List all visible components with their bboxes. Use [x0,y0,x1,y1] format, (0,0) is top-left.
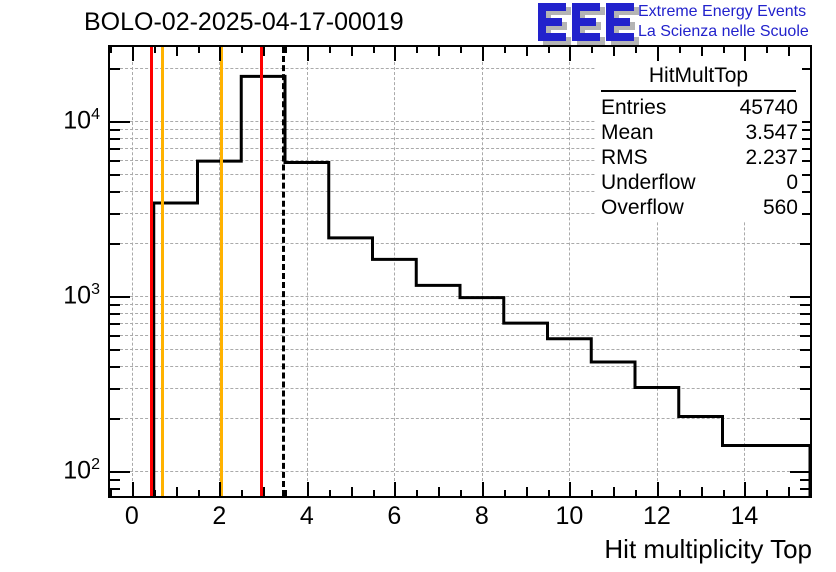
tick-mark [110,138,120,140]
tick-mark [110,304,120,306]
tick-mark [373,47,375,53]
tick-mark [285,47,287,53]
tick-mark [569,482,571,496]
x-tick-label: 6 [387,502,401,531]
tick-mark [701,487,703,496]
tick-mark [800,313,810,315]
tick-mark [482,47,484,61]
marker-red-low [150,47,153,496]
tick-mark [110,148,120,150]
tick-mark [526,487,528,496]
tick-mark [307,482,309,496]
tick-mark [800,243,810,245]
stats-row-key: Entries [601,95,666,120]
tick-mark [800,366,810,368]
stats-row-key: Underflow [601,170,696,195]
x-tick-label: 14 [730,502,758,531]
tick-mark [790,471,810,473]
tick-mark [285,490,287,496]
tick-mark [110,490,112,496]
marker-orange-high [220,47,223,496]
marker-orange-low [161,47,164,496]
tick-mark [438,47,440,56]
tick-mark [635,490,637,496]
tick-mark [241,47,243,53]
tick-mark [176,487,178,496]
tick-mark [110,47,112,53]
y-tick-base: 10 [63,107,91,135]
tick-mark [788,487,790,496]
tick-mark [800,349,810,351]
tick-mark [110,121,130,123]
y-tick-label: 102 [26,457,100,486]
tick-mark [548,47,550,53]
page-title: BOLO-02-2025-04-17-00019 [84,8,404,37]
tick-mark [504,47,506,53]
tick-mark [723,490,725,496]
tick-mark [394,47,396,61]
tick-mark [635,47,637,53]
stats-row: Overflow560 [601,195,798,220]
tick-mark [766,47,768,53]
stats-row-value: 2.237 [745,145,798,170]
eee-logo: Extreme Energy Events La Scienza nelle S… [538,2,834,44]
tick-mark [591,47,593,53]
tick-mark [613,487,615,496]
tick-mark [110,296,130,298]
stats-row-key: RMS [601,145,648,170]
tick-mark [110,335,120,337]
y-tick-exponent: 2 [91,456,100,473]
stats-row: RMS2.237 [601,145,798,170]
tick-mark [394,482,396,496]
stats-box-rows: Entries45740Mean3.547RMS2.237Underflow0O… [595,94,802,222]
root-canvas: BOLO-02-2025-04-17-00019 Extreme Energy … [0,0,836,572]
tick-mark [800,323,810,325]
tick-mark [219,482,221,496]
tick-mark [744,482,746,496]
stats-box: HitMultTop Entries45740Mean3.547RMS2.237… [595,62,802,222]
marker-mean-cut [282,47,285,496]
tick-mark [591,490,593,496]
eee-logo-line2: La Scienza nelle Scuole [638,22,809,42]
tick-mark [110,418,120,420]
tick-mark [373,490,375,496]
tick-mark [504,490,506,496]
tick-mark [613,47,615,56]
tick-mark [198,47,200,53]
tick-mark [110,213,120,215]
tick-mark [154,490,156,496]
stats-row-key: Mean [601,120,654,145]
eee-logo-text: Extreme Energy Events La Scienza nelle S… [638,2,809,42]
x-tick-label: 12 [643,502,671,531]
tick-mark [723,47,725,53]
stats-row-value: 45740 [740,95,798,120]
tick-mark [219,47,221,61]
tick-mark [766,490,768,496]
tick-mark [110,366,120,368]
tick-mark [482,482,484,496]
tick-mark [790,296,810,298]
y-tick-label: 103 [26,282,100,311]
tick-mark [110,349,120,351]
tick-mark [110,129,120,131]
x-tick-label: 10 [555,502,583,531]
tick-mark [657,482,659,496]
tick-mark [176,47,178,56]
marker-red-high [260,47,263,496]
tick-mark [241,490,243,496]
tick-mark [110,243,120,245]
tick-mark [800,335,810,337]
tick-mark [110,68,120,70]
tick-mark [460,490,462,496]
tick-mark [110,323,120,325]
tick-mark [810,47,812,53]
tick-mark [416,47,418,53]
tick-mark [110,488,120,490]
tick-mark [657,47,659,61]
tick-mark [810,490,812,496]
x-tick-label: 0 [125,502,139,531]
stats-row-value: 560 [763,195,798,220]
tick-mark [132,47,134,61]
tick-mark [110,388,120,390]
tick-mark [198,490,200,496]
tick-mark [329,490,331,496]
tick-mark [800,388,810,390]
stats-row-key: Overflow [601,195,684,220]
y-tick-exponent: 4 [91,106,100,123]
eee-logo-line1: Extreme Energy Events [638,2,809,22]
tick-mark [351,47,353,56]
tick-mark [526,47,528,56]
stats-row-value: 0 [786,170,798,195]
stats-row: Entries45740 [601,95,798,120]
tick-mark [110,160,120,162]
x-tick-label: 2 [212,502,226,531]
y-tick-base: 10 [63,457,91,485]
tick-mark [800,418,810,420]
y-tick-label: 104 [26,107,100,136]
stats-row: Underflow0 [601,170,798,195]
stats-row-value: 3.547 [745,120,798,145]
tick-mark [701,47,703,56]
tick-mark [744,47,746,61]
stats-box-title: HitMultTop [601,64,796,92]
tick-mark [110,479,120,481]
tick-mark [307,47,309,61]
tick-mark [263,47,265,56]
tick-mark [548,490,550,496]
tick-mark [351,487,353,496]
tick-mark [154,47,156,53]
x-tick-label: 4 [300,502,314,531]
tick-mark [788,47,790,56]
tick-mark [800,488,810,490]
x-axis-title: Hit multiplicity Top [604,534,812,565]
tick-mark [329,47,331,53]
tick-mark [110,471,130,473]
tick-mark [800,304,810,306]
tick-mark [132,482,134,496]
tick-mark [679,490,681,496]
tick-mark [110,174,120,176]
x-tick-label: 8 [475,502,489,531]
y-tick-exponent: 3 [91,281,100,298]
tick-mark [110,191,120,193]
tick-mark [460,47,462,53]
tick-mark [569,47,571,61]
tick-mark [679,47,681,53]
tick-mark [416,490,418,496]
tick-mark [110,313,120,315]
eee-logo-mark [538,3,634,41]
tick-mark [438,487,440,496]
stats-row: Mean3.547 [601,120,798,145]
tick-mark [800,479,810,481]
y-tick-base: 10 [63,282,91,310]
tick-mark [263,487,265,496]
